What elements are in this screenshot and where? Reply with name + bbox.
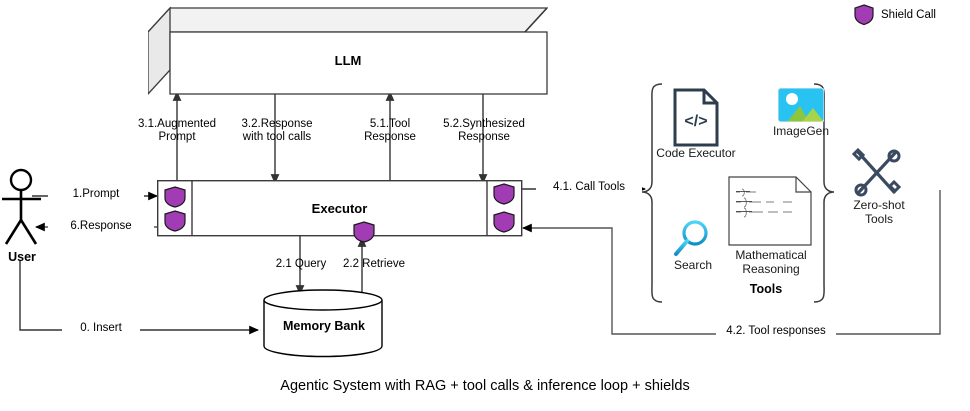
edge-label-4-1-call-tools: 4.1. Call Tools (536, 181, 642, 194)
code-document-icon: </> (672, 88, 720, 148)
crossed-wrenches-icon (850, 144, 904, 202)
node-executor[interactable]: Executor (157, 180, 523, 237)
tool-item-imagegen[interactable] (778, 88, 824, 122)
node-llm[interactable]: LLM (148, 4, 548, 96)
edge-label-3-2: 3.2.Response with tool calls (229, 118, 325, 144)
tool-item-search[interactable] (672, 218, 714, 260)
legend-shield-call: Shield Call (854, 4, 936, 26)
tool-label-search: Search (655, 258, 731, 272)
tool-label-zero-shot-tools: Zero-shot Tools (836, 198, 922, 226)
edge-label-0-insert: 0. Insert (62, 322, 140, 335)
edge-label-2-1-query: 2.1 Query (268, 258, 334, 271)
edge-label-2-2-retrieve: 2.2 Retrieve (334, 258, 414, 271)
node-executor-label: Executor (192, 201, 487, 216)
shield-icon[interactable] (353, 221, 375, 243)
magnifier-icon (672, 218, 714, 260)
edge-label-3-1: 3.1.Augmented Prompt (131, 118, 223, 144)
diagram-canvas: LLM 3.1.Augmented Prompt 3.2.Response wi… (0, 0, 970, 411)
formula-document-icon (728, 176, 812, 246)
node-user-label: User (0, 250, 44, 264)
shield-icon (854, 4, 874, 26)
tool-item-zero-shot-tools[interactable] (850, 144, 904, 202)
tool-label-imagegen: ImageGen (761, 124, 841, 138)
edge-label-5-2: 5.2.Synthesized Response (434, 118, 534, 144)
diagram-caption: Agentic System with RAG + tool calls & i… (0, 378, 970, 394)
tool-item-code-executor[interactable]: </> (672, 88, 720, 148)
actor-icon (0, 168, 60, 248)
node-user[interactable]: User (0, 168, 60, 248)
node-memory-bank-label: Memory Bank (262, 319, 386, 333)
edge-label-1-prompt: 1.Prompt (48, 188, 144, 201)
svg-text:</>: </> (684, 113, 707, 130)
tool-label-mathematical-reasoning: Mathematical Reasoning (724, 248, 818, 276)
tool-label-code-executor: Code Executor (646, 146, 746, 160)
edge-label-6-response: 6.Response (48, 220, 154, 233)
shield-icon[interactable] (493, 183, 515, 205)
tools-group-label: Tools (706, 282, 826, 296)
edge-0-insert-line (20, 260, 258, 330)
shield-icon[interactable] (164, 210, 186, 232)
image-icon (778, 88, 824, 122)
shield-icon[interactable] (164, 186, 186, 208)
legend-label: Shield Call (881, 9, 936, 21)
edge-label-4-2-tool-responses: 4.2. Tool responses (716, 325, 836, 338)
node-llm-label: LLM (148, 53, 548, 68)
shield-icon[interactable] (493, 211, 515, 233)
tool-item-mathematical-reasoning[interactable] (728, 176, 812, 246)
edge-label-5-1: 5.1.Tool Response (348, 118, 432, 144)
node-memory-bank[interactable]: Memory Bank (262, 288, 386, 358)
